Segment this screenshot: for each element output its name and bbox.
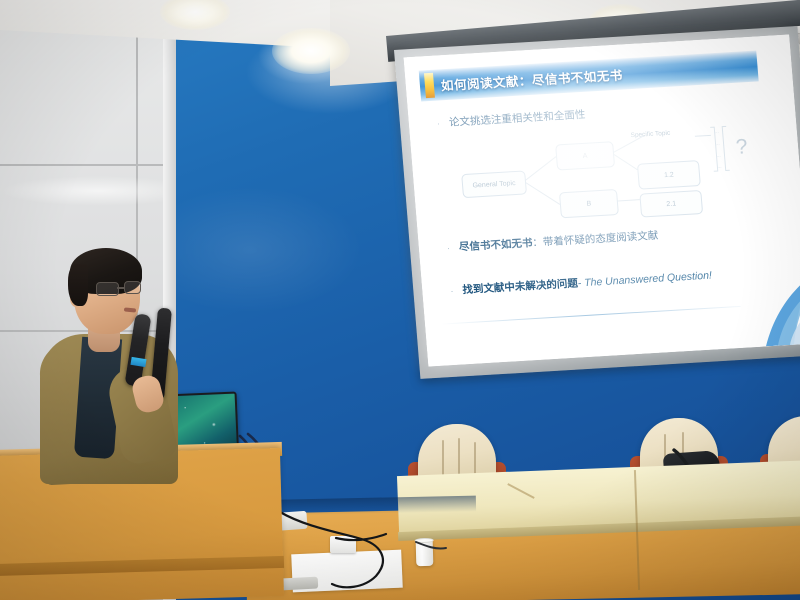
slide-bullet-3: · 找到文献中未解决的问题- The Unanswered Question! xyxy=(450,268,713,298)
bullet-marker-icon: · xyxy=(450,287,454,296)
bullet-marker-icon: · xyxy=(437,119,441,128)
slide-title: 如何阅读文献：尽信书不如无书 xyxy=(440,65,623,95)
slide-footer-rule xyxy=(441,306,741,325)
lecture-hall-photo: 如何阅读文献：尽信书不如无书 · 论文挑选注重相关性和全面性 xyxy=(0,0,800,600)
bullet-2-text: 尽信书不如无书：带着怀疑的态度阅读文献 xyxy=(458,228,658,255)
diagram-node-b: B xyxy=(559,189,619,218)
presenter-hair-side xyxy=(68,264,88,306)
glasses-icon xyxy=(124,281,141,294)
bullet-marker-icon: · xyxy=(447,244,451,253)
projection-screen: 如何阅读文献：尽信书不如无书 · 论文挑选注重相关性和全面性 xyxy=(394,26,800,379)
bullet-2-rest: ：带着怀疑的态度阅读文献 xyxy=(532,230,659,249)
svg-text:...: ... xyxy=(716,153,721,159)
question-mark-icon: ? xyxy=(735,135,749,160)
bullet-2-emphasis: 尽信书不如无书 xyxy=(459,237,533,253)
svg-text:...: ... xyxy=(717,164,722,170)
slide-diagram: ... ... ... ... General Topic A B 1.2 2.… xyxy=(458,123,765,232)
slide-title-bar: 如何阅读文献：尽信书不如无书 xyxy=(419,51,759,102)
slide-corner-ribbon xyxy=(730,270,800,348)
bullet-3-text: 找到文献中未解决的问题- The Unanswered Question! xyxy=(462,268,713,298)
wall-seam xyxy=(0,164,164,166)
bullet-3-italic: - The Unanswered Question! xyxy=(577,270,712,290)
diagram-node-2-1: 2.1 xyxy=(639,190,703,218)
bullet-1-text: 论文挑选注重相关性和全面性 xyxy=(448,107,585,130)
glasses-icon xyxy=(96,282,119,296)
diagram-node-general: General Topic xyxy=(461,170,527,198)
wall-glare xyxy=(0,176,164,206)
diagram-node-1-2: 1.2 xyxy=(637,160,701,190)
slide-bullet-1: · 论文挑选注重相关性和全面性 xyxy=(436,107,585,131)
slide-bullet-2: · 尽信书不如无书：带着怀疑的态度阅读文献 xyxy=(446,228,658,255)
svg-text:...: ... xyxy=(715,141,720,147)
svg-text:...: ... xyxy=(714,129,719,135)
presentation-slide: 如何阅读文献：尽信书不如无书 · 论文挑选注重相关性和全面性 xyxy=(404,35,800,367)
diagram-node-a: A xyxy=(555,141,615,170)
screen-surface: 如何阅读文献：尽信书不如无书 · 论文挑选注重相关性和全面性 xyxy=(404,35,800,367)
downlight-icon xyxy=(272,28,350,74)
title-accent-block xyxy=(424,73,435,98)
presenter xyxy=(18,246,198,476)
bullet-3-emphasis: 找到文献中未解决的问题 xyxy=(462,277,578,296)
